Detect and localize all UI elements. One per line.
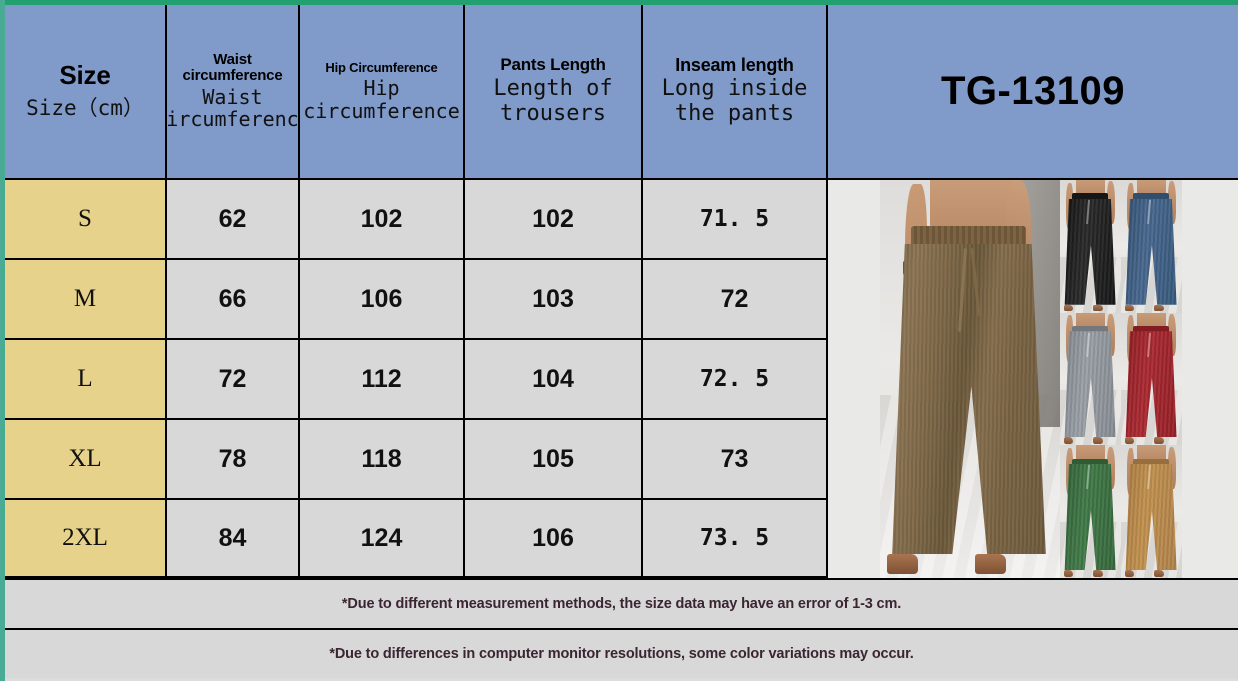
cell-waist-s: 62: [167, 180, 300, 260]
size-label: M: [74, 285, 96, 313]
cell-waist-xl: 78: [167, 420, 300, 500]
header-inseam: Inseam length Long inside the pants: [643, 5, 828, 180]
color-swatch-blue[interactable]: [1121, 180, 1182, 313]
color-swatch-gray[interactable]: [1060, 313, 1121, 446]
cell-pants-length-xl: 105: [465, 420, 643, 500]
color-swatch-red[interactable]: [1121, 313, 1182, 446]
table-row-size-m: M: [5, 260, 167, 340]
left-accent-border: [0, 0, 5, 681]
header-waist-en: Waist circumference: [167, 52, 298, 84]
cell-inseam-l: 72. 5: [643, 340, 828, 420]
size-label: 2XL: [62, 524, 108, 552]
product-code: TG-13109: [941, 69, 1125, 114]
size-chart-sheet: Size Size（cm） Waist circumference Waist …: [0, 0, 1238, 681]
note-color-variation: *Due to differences in computer monitor …: [5, 628, 1238, 678]
header-pants-length-cn: Length of trousers: [465, 77, 641, 126]
cell-hip-s: 102: [300, 180, 465, 260]
header-inseam-cn: Long inside the pants: [643, 77, 826, 126]
cell-pants-length-l: 104: [465, 340, 643, 420]
cell-waist-l: 72: [167, 340, 300, 420]
cell-hip-m: 106: [300, 260, 465, 340]
color-swatch-green[interactable]: [1060, 445, 1121, 578]
color-swatch-black[interactable]: [1060, 180, 1121, 313]
header-waist-cn: Waist circumference: [167, 86, 300, 131]
product-gallery: [828, 180, 1238, 578]
header-hip: Hip Circumference Hip circumference: [300, 5, 465, 180]
cell-inseam-2xl: 73. 5: [643, 500, 828, 578]
product-code-panel: TG-13109: [828, 5, 1238, 180]
size-label: L: [77, 365, 92, 393]
cell-inseam-m: 72: [643, 260, 828, 340]
header-hip-en: Hip Circumference: [325, 61, 437, 75]
cell-waist-m: 66: [167, 260, 300, 340]
cell-hip-2xl: 124: [300, 500, 465, 578]
top-accent-border: [0, 0, 1238, 5]
cell-inseam-s: 71. 5: [643, 180, 828, 260]
header-pants-length: Pants Length Length of trousers: [465, 5, 643, 180]
cell-hip-xl: 118: [300, 420, 465, 500]
header-inseam-en: Inseam length: [675, 56, 793, 75]
header-pants-length-en: Pants Length: [500, 56, 605, 74]
header-size: Size Size（cm）: [5, 5, 167, 180]
cell-waist-2xl: 84: [167, 500, 300, 578]
header-hip-cn: Hip circumference: [300, 77, 463, 122]
product-photo-main: [880, 180, 1060, 578]
header-size-cn: Size（cm）: [26, 97, 144, 121]
cell-inseam-xl: 73: [643, 420, 828, 500]
table-row-size-s: S: [5, 180, 167, 260]
cell-pants-length-s: 102: [465, 180, 643, 260]
header-waist: Waist circumference Waist circumference: [167, 5, 300, 180]
cell-hip-l: 112: [300, 340, 465, 420]
color-swatch-khaki[interactable]: [1121, 445, 1182, 578]
size-label: S: [78, 205, 92, 233]
size-label: XL: [68, 445, 101, 473]
note-measurement-error: *Due to different measurement methods, t…: [5, 578, 1238, 628]
cell-pants-length-m: 103: [465, 260, 643, 340]
header-size-en: Size: [59, 62, 110, 89]
table-row-size-2xl: 2XL: [5, 500, 167, 578]
cell-pants-length-2xl: 106: [465, 500, 643, 578]
table-row-size-l: L: [5, 340, 167, 420]
color-variant-grid: [1060, 180, 1182, 578]
table-row-size-xl: XL: [5, 420, 167, 500]
